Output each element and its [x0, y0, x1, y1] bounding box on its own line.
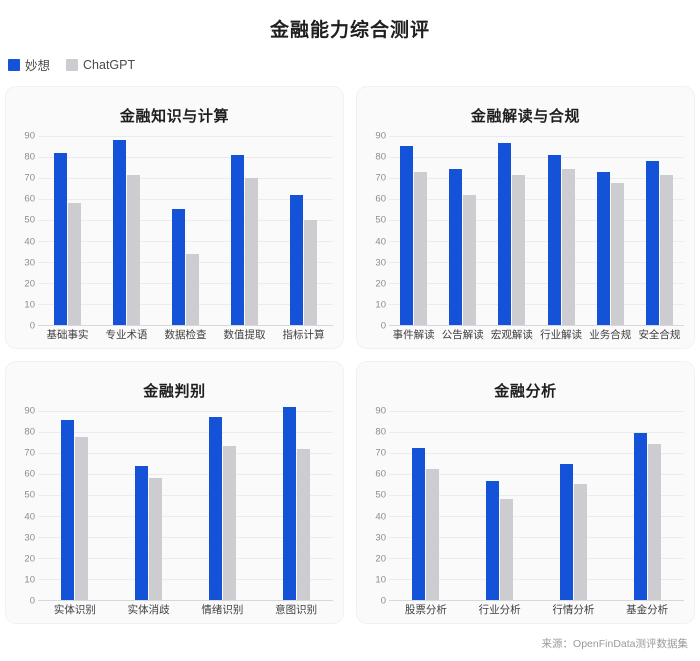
- y-tick-label: 0: [30, 597, 35, 607]
- bar-group: [38, 411, 112, 600]
- plot-area-3: [389, 411, 684, 601]
- y-tick-label: 20: [375, 279, 386, 289]
- chart-title-3: 金融分析: [367, 380, 684, 401]
- y-tick-label: 70: [24, 448, 35, 458]
- y-tick-label: 20: [375, 554, 386, 564]
- chart-card-2: 金融判别 9080706050403020100 实体识别实体消歧情绪识别意图识…: [6, 362, 343, 623]
- y-tick-label: 70: [375, 448, 386, 458]
- y-tick-label: 60: [24, 195, 35, 205]
- y-tick-label: 90: [24, 131, 35, 141]
- x-axis-label: 实体识别: [38, 605, 112, 617]
- chart-plot-2: 9080706050403020100: [16, 411, 333, 601]
- bar-miaoxiang[interactable]: [449, 169, 462, 325]
- y-tick-label: 90: [24, 406, 35, 416]
- bar-miaoxiang[interactable]: [646, 161, 659, 325]
- x-axis-label: 宏观解读: [487, 330, 536, 342]
- y-tick-label: 30: [375, 258, 386, 268]
- bar-group: [487, 136, 536, 325]
- legend-item-chatgpt: ChatGPT: [66, 58, 135, 72]
- y-tick-label: 50: [24, 216, 35, 226]
- bar-chatgpt[interactable]: [463, 195, 476, 326]
- y-tick-label: 20: [24, 554, 35, 564]
- x-axis-labels-3: 股票分析行业分析行情分析基金分析: [389, 601, 684, 617]
- y-tick-label: 10: [24, 575, 35, 585]
- bar-miaoxiang[interactable]: [412, 448, 425, 601]
- bar-miaoxiang[interactable]: [597, 172, 610, 326]
- x-axis-labels-0: 基础事实专业术语数据检查数值提取指标计算: [38, 326, 333, 342]
- chart-plot-3: 9080706050403020100: [367, 411, 684, 601]
- y-tick-label: 10: [375, 575, 386, 585]
- bar-group: [537, 136, 586, 325]
- bar-miaoxiang[interactable]: [54, 153, 67, 326]
- y-tick-label: 80: [24, 427, 35, 437]
- y-axis-3: 9080706050403020100: [367, 411, 389, 601]
- bar-chatgpt[interactable]: [660, 175, 673, 326]
- y-axis-0: 9080706050403020100: [16, 136, 38, 326]
- y-tick-label: 40: [375, 512, 386, 522]
- bar-miaoxiang[interactable]: [61, 420, 74, 600]
- bar-miaoxiang[interactable]: [113, 140, 126, 325]
- legend-item-miaoxiang: 妙想: [8, 55, 50, 74]
- bar-group: [635, 136, 684, 325]
- y-tick-label: 80: [24, 152, 35, 162]
- bar-group: [389, 136, 438, 325]
- y-tick-label: 60: [375, 195, 386, 205]
- y-tick-label: 20: [24, 279, 35, 289]
- chart-title-0: 金融知识与计算: [16, 105, 333, 126]
- bar-chatgpt[interactable]: [68, 203, 81, 325]
- chart-card-3: 金融分析 9080706050403020100 股票分析行业分析行情分析基金分…: [357, 362, 694, 623]
- y-tick-label: 30: [24, 533, 35, 543]
- chart-title-2: 金融判别: [16, 380, 333, 401]
- bar-chatgpt[interactable]: [414, 172, 427, 326]
- bar-miaoxiang[interactable]: [634, 433, 647, 600]
- bar-chatgpt[interactable]: [245, 178, 258, 325]
- x-axis-label: 行业解读: [537, 330, 586, 342]
- y-tick-label: 80: [375, 152, 386, 162]
- bar-miaoxiang[interactable]: [209, 417, 222, 600]
- y-tick-label: 30: [375, 533, 386, 543]
- y-tick-label: 40: [24, 512, 35, 522]
- chart-title-1: 金融解读与合规: [367, 105, 684, 126]
- y-tick-label: 30: [24, 258, 35, 268]
- y-tick-label: 50: [375, 216, 386, 226]
- y-tick-label: 10: [24, 300, 35, 310]
- bar-miaoxiang[interactable]: [172, 209, 185, 325]
- bar-chatgpt[interactable]: [75, 437, 88, 600]
- x-axis-label: 意图识别: [259, 605, 333, 617]
- bar-miaoxiang[interactable]: [290, 195, 303, 326]
- x-axis-label: 股票分析: [389, 605, 463, 617]
- bars-container-1: [389, 136, 684, 325]
- chart-card-1: 金融解读与合规 9080706050403020100 事件解读公告解读宏观解读…: [357, 87, 694, 348]
- bar-miaoxiang[interactable]: [231, 155, 244, 326]
- bar-miaoxiang[interactable]: [548, 155, 561, 326]
- legend-label-miaoxiang: 妙想: [25, 55, 50, 74]
- y-tick-label: 60: [375, 470, 386, 480]
- charts-grid: 金融知识与计算 9080706050403020100 基础事实专业术语数据检查…: [0, 75, 700, 623]
- bar-group: [97, 136, 156, 325]
- plot-area-0: [38, 136, 333, 326]
- bar-miaoxiang[interactable]: [560, 464, 573, 600]
- bar-group: [156, 136, 215, 325]
- bar-group: [389, 411, 463, 600]
- x-axis-label: 专业术语: [97, 330, 156, 342]
- y-axis-2: 9080706050403020100: [16, 411, 38, 601]
- x-axis-labels-1: 事件解读公告解读宏观解读行业解读业务合规安全合规: [389, 326, 684, 342]
- y-tick-label: 70: [24, 173, 35, 183]
- bars-container-3: [389, 411, 684, 600]
- plot-area-2: [38, 411, 333, 601]
- bar-group: [186, 411, 260, 600]
- bar-miaoxiang[interactable]: [486, 481, 499, 600]
- source-note: 来源：OpenFinData测评数据集: [542, 636, 688, 651]
- y-tick-label: 40: [24, 237, 35, 247]
- bar-chatgpt[interactable]: [574, 484, 587, 600]
- bar-chatgpt[interactable]: [426, 469, 439, 601]
- bar-chatgpt[interactable]: [149, 478, 162, 600]
- bar-chatgpt[interactable]: [611, 183, 624, 325]
- bar-miaoxiang[interactable]: [498, 143, 511, 325]
- bar-group: [463, 411, 537, 600]
- bars-container-0: [38, 136, 333, 325]
- infographic-page: 金融能力综合测评 妙想 ChatGPT 金融知识与计算 908070605040…: [0, 0, 700, 661]
- page-title: 金融能力综合测评: [0, 0, 700, 43]
- x-axis-label: 数值提取: [215, 330, 274, 342]
- chart-legend: 妙想 ChatGPT: [0, 43, 700, 75]
- bar-group: [274, 136, 333, 325]
- y-tick-label: 60: [24, 470, 35, 480]
- x-axis-label: 基础事实: [38, 330, 97, 342]
- bar-chatgpt[interactable]: [304, 220, 317, 325]
- bar-chatgpt[interactable]: [562, 169, 575, 325]
- chart-plot-0: 9080706050403020100: [16, 136, 333, 326]
- y-tick-label: 80: [375, 427, 386, 437]
- bar-group: [610, 411, 684, 600]
- x-axis-label: 事件解读: [389, 330, 438, 342]
- x-axis-label: 情绪识别: [186, 605, 260, 617]
- legend-swatch-chatgpt: [66, 59, 78, 71]
- bar-chatgpt[interactable]: [223, 446, 236, 601]
- bar-chatgpt[interactable]: [127, 175, 140, 326]
- bar-chatgpt[interactable]: [648, 444, 661, 600]
- bar-miaoxiang[interactable]: [400, 146, 413, 325]
- y-axis-1: 9080706050403020100: [367, 136, 389, 326]
- x-axis-label: 基金分析: [610, 605, 684, 617]
- y-tick-label: 50: [24, 491, 35, 501]
- y-tick-label: 0: [381, 322, 386, 332]
- y-tick-label: 0: [30, 322, 35, 332]
- y-tick-label: 50: [375, 491, 386, 501]
- bars-container-2: [38, 411, 333, 600]
- legend-swatch-miaoxiang: [8, 59, 20, 71]
- bar-group: [586, 136, 635, 325]
- x-axis-label: 安全合规: [635, 330, 684, 342]
- x-axis-labels-2: 实体识别实体消歧情绪识别意图识别: [38, 601, 333, 617]
- y-tick-label: 40: [375, 237, 386, 247]
- x-axis-label: 行业分析: [463, 605, 537, 617]
- y-tick-label: 70: [375, 173, 386, 183]
- bar-group: [537, 411, 611, 600]
- bar-group: [38, 136, 97, 325]
- y-tick-label: 10: [375, 300, 386, 310]
- bar-chatgpt[interactable]: [500, 499, 513, 600]
- y-tick-label: 90: [375, 406, 386, 416]
- bar-group: [259, 411, 333, 600]
- bar-group: [438, 136, 487, 325]
- x-axis-label: 数据检查: [156, 330, 215, 342]
- x-axis-label: 实体消歧: [112, 605, 186, 617]
- chart-card-0: 金融知识与计算 9080706050403020100 基础事实专业术语数据检查…: [6, 87, 343, 348]
- x-axis-label: 业务合规: [586, 330, 635, 342]
- bar-group: [112, 411, 186, 600]
- y-tick-label: 90: [375, 131, 386, 141]
- legend-label-chatgpt: ChatGPT: [83, 58, 135, 72]
- x-axis-label: 行情分析: [537, 605, 611, 617]
- plot-area-1: [389, 136, 684, 326]
- y-tick-label: 0: [381, 597, 386, 607]
- x-axis-label: 公告解读: [438, 330, 487, 342]
- x-axis-label: 指标计算: [274, 330, 333, 342]
- bar-chatgpt[interactable]: [297, 449, 310, 601]
- chart-plot-1: 9080706050403020100: [367, 136, 684, 326]
- bar-group: [215, 136, 274, 325]
- bar-chatgpt[interactable]: [512, 175, 525, 326]
- bar-chatgpt[interactable]: [186, 254, 199, 326]
- bar-miaoxiang[interactable]: [135, 466, 148, 601]
- bar-miaoxiang[interactable]: [283, 407, 296, 601]
